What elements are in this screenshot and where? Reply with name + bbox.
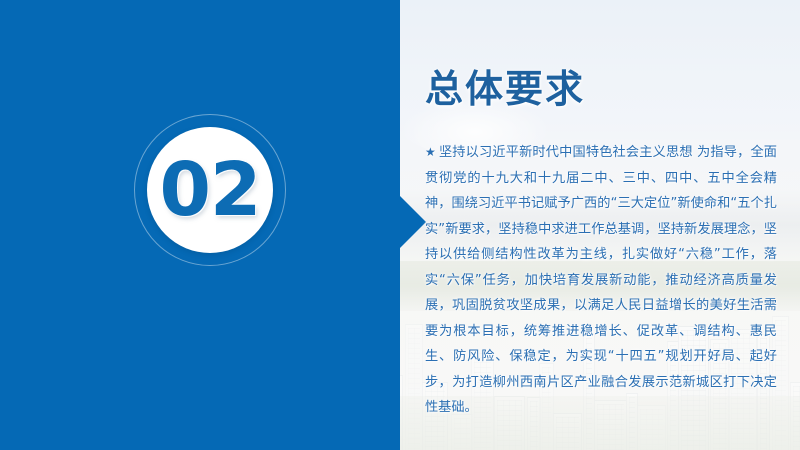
- star-bullet-icon: ★: [425, 145, 436, 159]
- content-column: 总体要求 ★坚持以习近平新时代中国特色社会主义思想 为指导，全面贯彻党的十九大和…: [425, 0, 777, 450]
- panel-arrow-pointer: [400, 196, 426, 248]
- body-paragraph: ★坚持以习近平新时代中国特色社会主义思想 为指导，全面贯彻党的十九大和十九届二中…: [425, 140, 777, 421]
- presentation-slide: 02 总体要求 ★坚持以习近平新时代中国特色社会主义思想 为指导，全面贯彻党的十…: [0, 0, 800, 450]
- page-title: 总体要求: [425, 58, 585, 113]
- section-number-badge: 02: [134, 114, 286, 266]
- body-paragraph-text: 坚持以习近平新时代中国特色社会主义思想 为指导，全面贯彻党的十九大和十九届二中、…: [425, 145, 777, 415]
- badge-number-label: 02: [147, 127, 273, 253]
